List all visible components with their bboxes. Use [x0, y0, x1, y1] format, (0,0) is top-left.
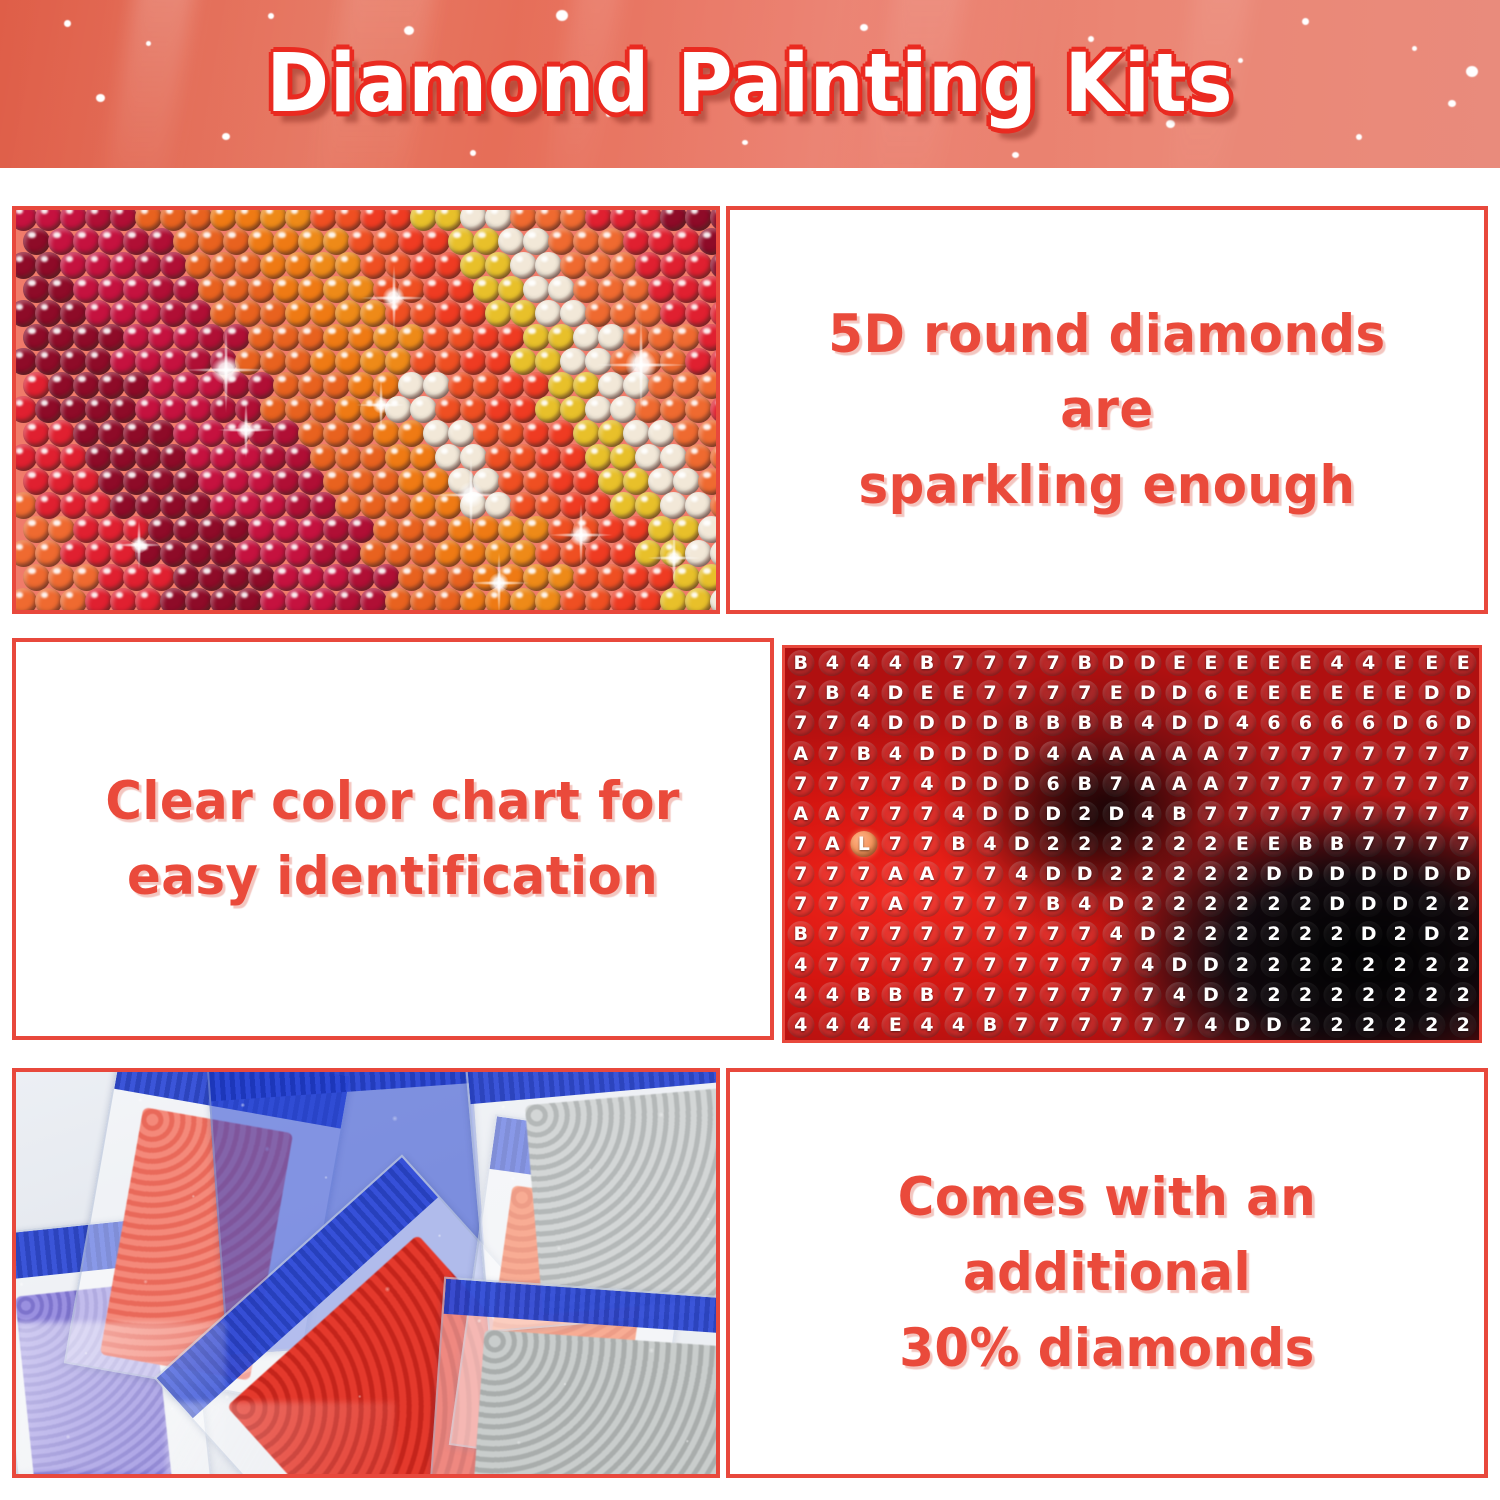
- diamond-bead: [60, 588, 87, 614]
- feature-sparkle-line-2: sparkling enough: [794, 448, 1420, 523]
- diamond-bead: [635, 300, 662, 327]
- chart-symbol-cell: 2: [1227, 859, 1259, 889]
- chart-symbol-cell: 7: [974, 648, 1006, 678]
- diamond-bead: [410, 444, 437, 471]
- chart-symbol-cell: D: [1100, 889, 1132, 919]
- chart-symbol-label: 7: [794, 773, 807, 795]
- diamond-bead: [173, 276, 200, 303]
- chart-symbol-label: 7: [889, 773, 902, 795]
- diamond-bead: [35, 396, 62, 423]
- diamond-bead: [423, 612, 450, 614]
- chart-symbol-label: 7: [1047, 1014, 1060, 1036]
- chart-symbol-label: 4: [794, 984, 807, 1006]
- diamond-bead: [448, 228, 475, 255]
- chart-symbol-cell: D: [1384, 708, 1416, 738]
- chart-symbol-label: E: [1236, 682, 1249, 704]
- chart-symbol-label: 2: [1457, 954, 1470, 976]
- diamond-bead: [148, 276, 175, 303]
- diamond-bead: [548, 324, 575, 351]
- chart-symbol-cell: 2: [1384, 950, 1416, 980]
- chart-symbol-cell: 7: [974, 919, 1006, 949]
- chart-symbol-cell: D: [1416, 678, 1448, 708]
- diamond-bead: [710, 492, 720, 519]
- diamond-bead: [23, 612, 50, 614]
- diamond-bead: [235, 540, 262, 567]
- chart-symbol-label: 7: [1299, 803, 1312, 825]
- diamond-bead: [648, 564, 675, 591]
- diamond-bead: [73, 276, 100, 303]
- diamond-bead: [335, 588, 362, 614]
- diamond-bead: [473, 228, 500, 255]
- chart-symbol-label: D: [1329, 863, 1345, 885]
- chart-symbol-label: D: [1424, 682, 1440, 704]
- diamond-bead: [548, 420, 575, 447]
- chart-symbol-cell: D: [1321, 859, 1353, 889]
- chart-symbol-cell: D: [1447, 678, 1479, 708]
- diamond-bead: [198, 564, 225, 591]
- chart-symbol-label: 7: [1362, 743, 1375, 765]
- chart-symbol-cell: 7: [911, 799, 943, 829]
- chart-symbol-label: B: [1077, 712, 1091, 734]
- chart-symbol-cell: D: [1006, 799, 1038, 829]
- diamond-bead: [485, 444, 512, 471]
- diamond-bead: [235, 300, 262, 327]
- chart-symbol-label: 2: [1204, 863, 1217, 885]
- diamond-bead: [285, 540, 312, 567]
- diamond-bead: [360, 348, 387, 375]
- chart-symbol-label: 7: [1141, 1014, 1154, 1036]
- diamond-bead: [573, 468, 600, 495]
- diamond-bead: [310, 300, 337, 327]
- diamond-bead: [323, 564, 350, 591]
- diamond-bead: [673, 468, 700, 495]
- chart-symbol-cell: 6: [1195, 678, 1227, 708]
- symbol-chart-canvas: B444B7777BDDEEEEE44EEE7B4DEE7777EDD6EEEE…: [785, 648, 1479, 1040]
- chart-symbol-cell: 6: [1290, 708, 1322, 738]
- chart-symbol-label: D: [982, 743, 998, 765]
- feature-text-panel-sparkle: 5D round diamonds are sparkling enough: [726, 206, 1488, 614]
- diamond-bead: [123, 228, 150, 255]
- diamond-bead: [423, 420, 450, 447]
- chart-symbol-label: 7: [1015, 984, 1028, 1006]
- chart-symbol-label: 7: [983, 893, 996, 915]
- diamond-bead: [260, 588, 287, 614]
- diamond-bead: [210, 300, 237, 327]
- chart-symbol-label: 2: [1173, 863, 1186, 885]
- chart-symbol-cell: A: [1164, 738, 1196, 768]
- diamond-bead: [598, 564, 625, 591]
- chart-symbol-cell: 2: [1164, 889, 1196, 919]
- chart-symbol-label: 2: [1362, 1014, 1375, 1036]
- chart-symbol-label: 7: [1236, 803, 1249, 825]
- diamond-bead: [273, 612, 300, 614]
- chart-symbol-label: 7: [1015, 893, 1028, 915]
- chart-symbol-label: 2: [1236, 984, 1249, 1006]
- chart-symbol-label: 4: [857, 712, 870, 734]
- chart-symbol-label: B: [920, 652, 934, 674]
- chart-symbol-label: D: [1203, 984, 1219, 1006]
- chart-symbol-cell: 2: [1132, 859, 1164, 889]
- chart-symbol-cell: 2: [1321, 919, 1353, 949]
- chart-symbol-label: 2: [1267, 954, 1280, 976]
- diamond-bead: [660, 588, 687, 614]
- diamond-bead: [285, 444, 312, 471]
- chart-symbol-cell: E: [1258, 648, 1290, 678]
- chart-symbol-label: A: [1203, 743, 1218, 765]
- chart-symbol-cell: 7: [1447, 799, 1479, 829]
- diamond-bead: [260, 348, 287, 375]
- diamond-bead: [460, 348, 487, 375]
- chart-symbol-cell: 7: [911, 919, 943, 949]
- diamond-bead: [398, 564, 425, 591]
- chart-symbol-label: 7: [1078, 923, 1091, 945]
- chart-symbol-label: 7: [952, 652, 965, 674]
- diamond-bead: [423, 228, 450, 255]
- chart-symbol-cell: B: [785, 919, 817, 949]
- chart-symbol-label: 4: [1141, 803, 1154, 825]
- diamond-bead: [210, 444, 237, 471]
- diamond-bead: [510, 396, 537, 423]
- chart-symbol-label: A: [793, 803, 808, 825]
- diamond-bead: [160, 348, 187, 375]
- chart-symbol-cell: 7: [1258, 738, 1290, 768]
- diamond-bead: [85, 588, 112, 614]
- diamond-bead: [323, 420, 350, 447]
- chart-symbol-cell: 4: [848, 648, 880, 678]
- chart-symbol-label: 6: [1204, 682, 1217, 704]
- chart-symbol-label: E: [1173, 652, 1186, 674]
- chart-symbol-cell: A: [1132, 738, 1164, 768]
- chart-symbol-cell: 4: [1037, 738, 1069, 768]
- diamond-bead: [560, 348, 587, 375]
- chart-symbol-label: 4: [857, 652, 870, 674]
- diamond-bead: [398, 468, 425, 495]
- chart-symbol-cell: A: [880, 859, 912, 889]
- diamond-bead: [35, 300, 62, 327]
- chart-symbol-cell: 4: [1353, 648, 1385, 678]
- diamond-bead: [48, 564, 75, 591]
- diamond-bead: [373, 276, 400, 303]
- diamond-bead: [48, 228, 75, 255]
- diamond-bead: [385, 444, 412, 471]
- diamond-bead: [573, 564, 600, 591]
- chart-symbol-cell: B: [1037, 889, 1069, 919]
- diamond-bead: [498, 228, 525, 255]
- chart-symbol-label: 7: [1267, 743, 1280, 765]
- chart-symbol-label: 4: [920, 773, 933, 795]
- diamond-bead: [435, 348, 462, 375]
- chart-symbol-label: D: [1171, 712, 1187, 734]
- chart-symbol-cell: 7: [1290, 738, 1322, 768]
- diamond-bead: [598, 324, 625, 351]
- diamond-bead: [698, 516, 721, 543]
- diamond-bead: [23, 324, 50, 351]
- diamond-bead: [660, 492, 687, 519]
- chart-symbol-cell: 7: [1006, 919, 1038, 949]
- chart-symbol-cell: D: [1006, 738, 1038, 768]
- chart-symbol-cell: 7: [943, 919, 975, 949]
- chart-symbol-label: 7: [1394, 773, 1407, 795]
- diamond-bead: [610, 252, 637, 279]
- chart-symbol-label: 4: [1141, 712, 1154, 734]
- chart-symbol-label: 2: [1425, 984, 1438, 1006]
- diamond-bead: [523, 228, 550, 255]
- chart-symbol-cell: E: [880, 1010, 912, 1040]
- chart-symbol-label: 7: [983, 954, 996, 976]
- chart-symbol-label: 2: [1394, 1014, 1407, 1036]
- chart-symbol-cell: E: [943, 678, 975, 708]
- chart-symbol-cell: D: [1290, 859, 1322, 889]
- chart-symbol-label: E: [1425, 652, 1438, 674]
- diamond-bead: [323, 612, 350, 614]
- diamond-bead: [610, 444, 637, 471]
- diamond-bead: [598, 612, 625, 614]
- diamond-bead: [185, 396, 212, 423]
- feature-text-panel-color-chart: Clear color chart for easy identificatio…: [12, 638, 774, 1040]
- diamond-bead: [73, 372, 100, 399]
- diamond-bead: [498, 324, 525, 351]
- diamond-bead: [85, 396, 112, 423]
- diamond-bead: [148, 612, 175, 614]
- chart-symbol-label: B: [951, 833, 965, 855]
- chart-symbol-label: 4: [983, 833, 996, 855]
- diamond-bead: [198, 324, 225, 351]
- diamond-bead: [648, 420, 675, 447]
- chart-symbol-label: A: [1140, 743, 1155, 765]
- chart-symbol-cell: D: [1447, 859, 1479, 889]
- diamond-bead: [448, 420, 475, 447]
- chart-symbol-label: E: [1267, 682, 1280, 704]
- diamond-bead: [660, 540, 687, 567]
- chart-symbol-label: D: [919, 712, 935, 734]
- diamond-bead: [573, 420, 600, 447]
- chart-symbol-cell: 4: [1006, 859, 1038, 889]
- diamond-bead: [210, 348, 237, 375]
- chart-symbol-cell: D: [1006, 769, 1038, 799]
- chart-symbol-cell: E: [1258, 678, 1290, 708]
- diamond-bead: [373, 228, 400, 255]
- chart-symbol-cell: 7: [1069, 980, 1101, 1010]
- diamond-bead: [698, 420, 721, 447]
- chart-symbol-cell: D: [974, 769, 1006, 799]
- diamond-bead: [535, 492, 562, 519]
- diamond-bead: [285, 300, 312, 327]
- chart-symbol-cell: 7: [943, 648, 975, 678]
- chart-symbol-label: 2: [1299, 984, 1312, 1006]
- chart-symbol-label: 4: [920, 1014, 933, 1036]
- diamond-bead: [698, 468, 721, 495]
- chart-symbol-label: 7: [1015, 1014, 1028, 1036]
- chart-symbol-label: 7: [1047, 923, 1060, 945]
- chart-symbol-cell: A: [1132, 769, 1164, 799]
- chart-symbol-cell: 7: [1447, 769, 1479, 799]
- diamond-bead: [373, 372, 400, 399]
- chart-symbol-cell: 7: [1037, 648, 1069, 678]
- diamond-bead: [635, 540, 662, 567]
- diamond-bead: [248, 564, 275, 591]
- chart-symbol-label: 7: [889, 923, 902, 945]
- chart-symbol-label: 7: [1173, 1014, 1186, 1036]
- chart-symbol-cell: 4: [848, 678, 880, 708]
- diamond-bead: [323, 372, 350, 399]
- chart-symbol-cell: 7: [1227, 769, 1259, 799]
- chart-symbol-cell: 2: [1195, 919, 1227, 949]
- diamond-bead: [610, 348, 637, 375]
- diamond-bead: [35, 492, 62, 519]
- diamond-bead: [98, 324, 125, 351]
- chart-symbol-cell: 7: [974, 950, 1006, 980]
- diamond-bead: [185, 588, 212, 614]
- diamond-bead: [410, 540, 437, 567]
- chart-symbol-cell: 7: [817, 859, 849, 889]
- chart-symbol-cell: D: [911, 738, 943, 768]
- diamond-bead: [248, 276, 275, 303]
- chart-symbol-label: 7: [1425, 833, 1438, 855]
- chart-symbol-cell: 7: [1006, 1010, 1038, 1040]
- chart-symbol-label: D: [1235, 1014, 1251, 1036]
- diamond-bead: [573, 228, 600, 255]
- diamond-bead: [310, 540, 337, 567]
- chart-symbol-cell: 2: [1290, 1010, 1322, 1040]
- chart-symbol-cell: B: [880, 980, 912, 1010]
- chart-symbol-label: D: [982, 712, 998, 734]
- chart-symbol-label: 2: [1457, 923, 1470, 945]
- diamond-bead: [710, 300, 720, 327]
- chart-symbol-label: D: [1014, 743, 1030, 765]
- chart-symbol-label: 7: [1362, 833, 1375, 855]
- diamond-bead: [673, 276, 700, 303]
- diamond-bead: [710, 588, 720, 614]
- diamond-bead: [448, 372, 475, 399]
- diamond-bead: [110, 348, 137, 375]
- diamond-bead: [535, 300, 562, 327]
- diamond-bead: [198, 516, 225, 543]
- chart-symbol-label: A: [1203, 773, 1218, 795]
- diamond-bead: [73, 468, 100, 495]
- chart-symbol-label: D: [1266, 1014, 1282, 1036]
- chart-symbol-cell: A: [1164, 769, 1196, 799]
- chart-symbol-label: 2: [1394, 923, 1407, 945]
- diamond-bead: [685, 444, 712, 471]
- chart-symbol-label: B: [920, 984, 934, 1006]
- diamond-bead: [648, 516, 675, 543]
- chart-symbol-cell: 7: [1384, 769, 1416, 799]
- chart-symbol-label: 7: [794, 893, 807, 915]
- chart-symbol-cell: 7: [1037, 1010, 1069, 1040]
- diamond-bead: [298, 324, 325, 351]
- diamond-bead: [85, 348, 112, 375]
- chart-symbol-label: D: [1298, 863, 1314, 885]
- chart-symbol-label: 4: [952, 803, 965, 825]
- diamond-bead: [385, 300, 412, 327]
- bag-sheen: [431, 1279, 716, 1474]
- diamond-bead: [598, 228, 625, 255]
- chart-symbol-cell: D: [1037, 859, 1069, 889]
- chart-symbol-cell: B: [1164, 799, 1196, 829]
- diamond-bead: [135, 588, 162, 614]
- chart-symbol-label: 7: [952, 954, 965, 976]
- chart-symbol-label: 4: [1047, 743, 1060, 765]
- diamond-bead: [510, 348, 537, 375]
- diamond-bead: [498, 468, 525, 495]
- chart-symbol-cell: E: [1227, 648, 1259, 678]
- diamond-bead: [585, 540, 612, 567]
- chart-symbol-label: 7: [826, 863, 839, 885]
- feature-color-chart-text: Clear color chart for easy identificatio…: [106, 764, 681, 915]
- diamond-bead: [523, 468, 550, 495]
- diamond-bead: [610, 588, 637, 614]
- chart-symbol-label: 7: [952, 893, 965, 915]
- chart-symbol-label: 7: [983, 652, 996, 674]
- diamond-bead: [585, 300, 612, 327]
- chart-symbol-cell: 2: [1353, 950, 1385, 980]
- chart-symbol-cell: B: [1290, 829, 1322, 859]
- diamond-bead: [248, 468, 275, 495]
- diamond-bead: [35, 444, 62, 471]
- chart-symbol-label: A: [1109, 743, 1124, 765]
- diamond-bead: [298, 420, 325, 447]
- chart-symbol-cell: 7: [1384, 738, 1416, 768]
- chart-symbol-label: D: [919, 743, 935, 765]
- diamond-bead: [523, 612, 550, 614]
- diamond-bead: [48, 420, 75, 447]
- chart-symbol-label: D: [1171, 682, 1187, 704]
- diamond-bead: [248, 324, 275, 351]
- chart-symbol-cell: E: [1353, 678, 1385, 708]
- chart-symbol-cell: E: [1290, 678, 1322, 708]
- chart-symbol-cell: D: [880, 708, 912, 738]
- chart-symbol-cell: A: [785, 738, 817, 768]
- diamond-bead: [660, 252, 687, 279]
- chart-symbol-cell: B: [1069, 708, 1101, 738]
- chart-symbol-cell: 4: [817, 980, 849, 1010]
- diamond-bead: [623, 612, 650, 614]
- chart-symbol-cell: E: [1384, 648, 1416, 678]
- diamond-bead: [173, 324, 200, 351]
- diamond-bead: [523, 372, 550, 399]
- diamond-bead: [173, 564, 200, 591]
- chart-symbol-cell: 7: [974, 678, 1006, 708]
- chart-symbol-cell: 7: [817, 769, 849, 799]
- chart-symbol-label: 4: [1078, 893, 1091, 915]
- diamond-bead: [710, 444, 720, 471]
- diamond-bead: [260, 540, 287, 567]
- diamond-bead: [560, 540, 587, 567]
- chart-symbol-label: 2: [1330, 1014, 1343, 1036]
- diamond-bead: [185, 348, 212, 375]
- diamond-bead: [473, 468, 500, 495]
- chart-symbol-cell: 7: [1353, 829, 1385, 859]
- chart-symbol-cell: 7: [1258, 769, 1290, 799]
- chart-symbol-label: 7: [1078, 984, 1091, 1006]
- diamond-bead: [335, 396, 362, 423]
- chart-symbol-label: 7: [889, 803, 902, 825]
- chart-symbol-cell: 2: [1447, 889, 1479, 919]
- chart-symbol-cell: 7: [911, 950, 943, 980]
- diamond-bead: [373, 468, 400, 495]
- diamond-bead: [48, 372, 75, 399]
- chart-symbol-label: 7: [1457, 833, 1470, 855]
- chart-symbol-label: D: [1171, 954, 1187, 976]
- diamond-bead: [473, 420, 500, 447]
- diamond-bead: [385, 252, 412, 279]
- diamond-bead: [448, 324, 475, 351]
- chart-symbol-cell: 7: [785, 889, 817, 919]
- chart-symbol-cell: E: [1416, 648, 1448, 678]
- chart-symbol-label: 7: [1110, 773, 1123, 795]
- chart-symbol-label: 2: [1173, 923, 1186, 945]
- diamond-bead: [623, 276, 650, 303]
